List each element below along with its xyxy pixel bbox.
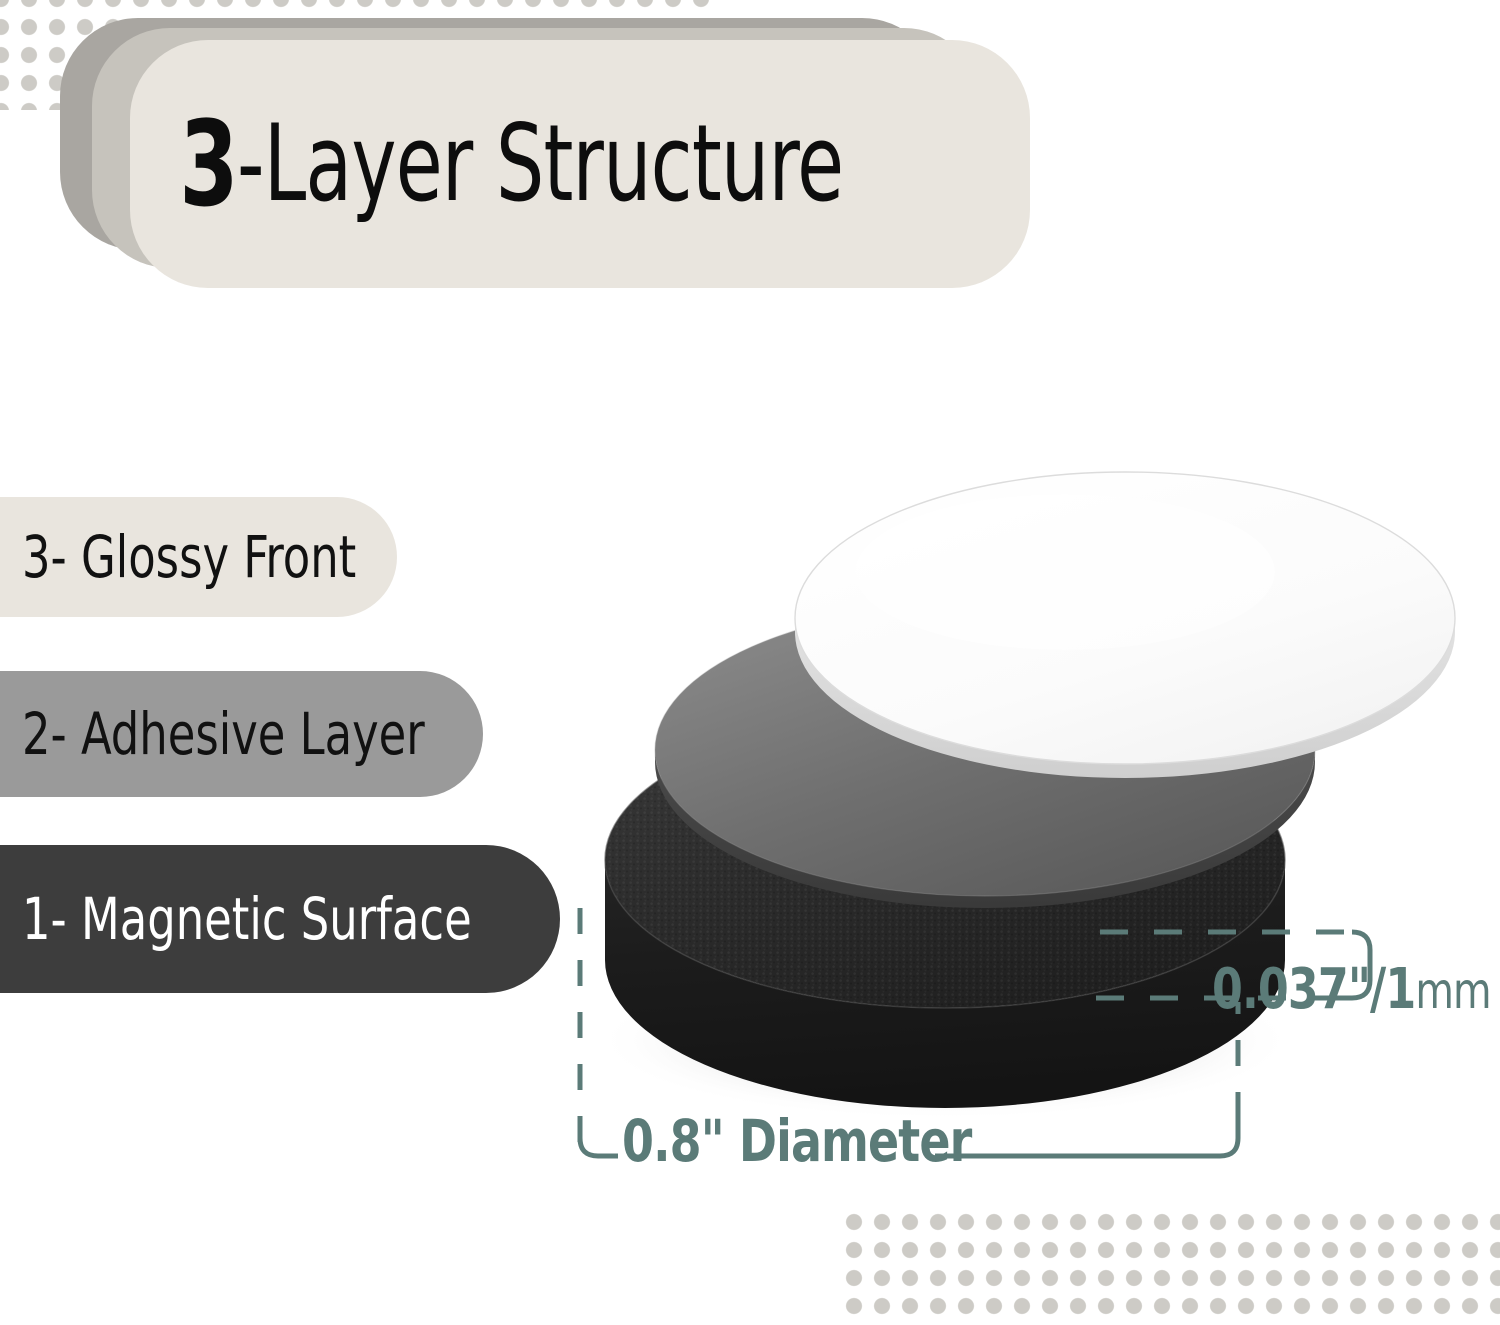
legend-item-magnetic-surface: 1- Magnetic Surface [0, 845, 560, 993]
dot-pattern-bottom-right [845, 1213, 1500, 1325]
glossy-front-disc [795, 472, 1455, 778]
diameter-left-corner [580, 1138, 618, 1156]
thickness-value: 0.037"/1 [1212, 957, 1415, 1022]
legend-label-adhesive-layer: 2- Adhesive Layer [22, 705, 425, 763]
thickness-dimension-label: 0.037"/1mm [1212, 962, 1491, 1018]
legend-label-magnetic-surface: 1- Magnetic Surface [22, 890, 472, 948]
thickness-unit: mm [1415, 962, 1490, 1020]
legend-item-adhesive-layer: 2- Adhesive Layer [0, 671, 483, 797]
infographic-canvas: 3-Layer Structure 3- Glossy Front 2- Adh… [0, 0, 1500, 1325]
page-title: 3-Layer Structure [130, 40, 1030, 288]
title-block: 3-Layer Structure [60, 18, 1060, 288]
diameter-dimension-label: 0.8" Diameter [622, 1112, 971, 1170]
legend-item-glossy-front: 3- Glossy Front [0, 497, 397, 617]
legend-label-glossy-front: 3- Glossy Front [22, 528, 356, 586]
title-number: 3 [179, 105, 237, 223]
title-rest: -Layer Structure [237, 111, 843, 217]
